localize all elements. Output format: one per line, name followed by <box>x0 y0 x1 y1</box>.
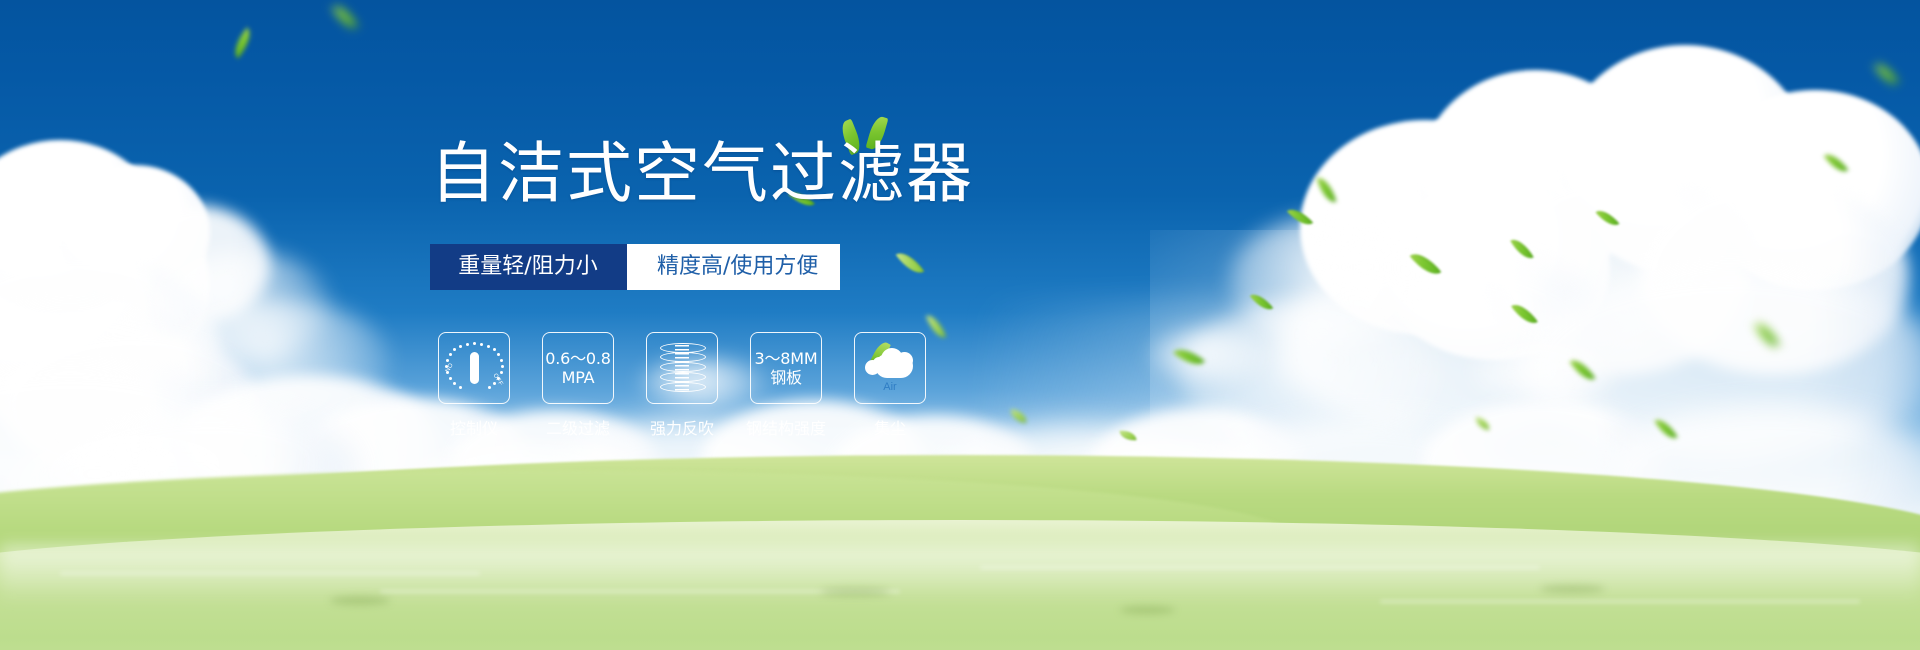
dial-off-label: OFF <box>491 373 503 387</box>
badge-secondary-label: 精度高/使用方便 <box>657 256 818 278</box>
tagline-badges: 重量轻/阻力小 精度高/使用方便 <box>430 244 840 290</box>
dial-on-label: NO <box>445 362 455 373</box>
feature-item: 强力反吹 <box>646 332 718 439</box>
feature-caption: 钢结构强度 <box>746 415 826 439</box>
feature-icon-box: Air <box>854 332 926 404</box>
pressure-text-icon: 0.6～0.8 MPA <box>545 349 611 387</box>
feature-text-line2: 钢板 <box>755 368 818 387</box>
feature-text-line1: 3～8MM <box>755 349 818 368</box>
feature-item: NO OFF 控制仪 <box>438 332 510 439</box>
feature-caption: 强力反吹 <box>650 415 714 439</box>
dial-pointer <box>470 352 479 384</box>
steel-plate-text-icon: 3～8MM 钢板 <box>755 349 818 387</box>
feature-item: 3～8MM 钢板 钢结构强度 <box>750 332 822 439</box>
feature-caption: 集尘 <box>874 415 906 439</box>
feature-icon-box <box>646 332 718 404</box>
feature-item: 0.6～0.8 MPA 二级过滤 <box>542 332 614 439</box>
feature-text-line1: 0.6～0.8 <box>545 349 611 368</box>
feature-item: Air 集尘 <box>854 332 926 439</box>
coil-filter-icon <box>660 343 704 393</box>
badge-primary: 重量轻/阻力小 <box>430 244 628 290</box>
feature-caption: 控制仪 <box>450 415 498 439</box>
feature-list: NO OFF 控制仪 0.6～0.8 MPA 二级过滤 <box>438 332 926 439</box>
badge-primary-label: 重量轻/阻力小 <box>458 256 597 278</box>
feature-text-line2: MPA <box>545 368 611 387</box>
banner-content: 自洁式空气过滤器 重量轻/阻力小 精度高/使用方便 <box>0 0 1920 650</box>
page-title: 自洁式空气过滤器 <box>430 135 974 213</box>
air-label: Air <box>863 381 917 393</box>
feature-icon-box: 3～8MM 钢板 <box>750 332 822 404</box>
control-dial-icon: NO OFF <box>446 340 502 396</box>
badge-secondary: 精度高/使用方便 <box>627 244 840 290</box>
feature-caption: 二级过滤 <box>546 415 610 439</box>
feature-icon-box: 0.6～0.8 MPA <box>542 332 614 404</box>
product-banner: 自洁式空气过滤器 重量轻/阻力小 精度高/使用方便 <box>0 0 1920 650</box>
feature-icon-box: NO OFF <box>438 332 510 404</box>
air-cloud-icon: Air <box>863 346 917 390</box>
